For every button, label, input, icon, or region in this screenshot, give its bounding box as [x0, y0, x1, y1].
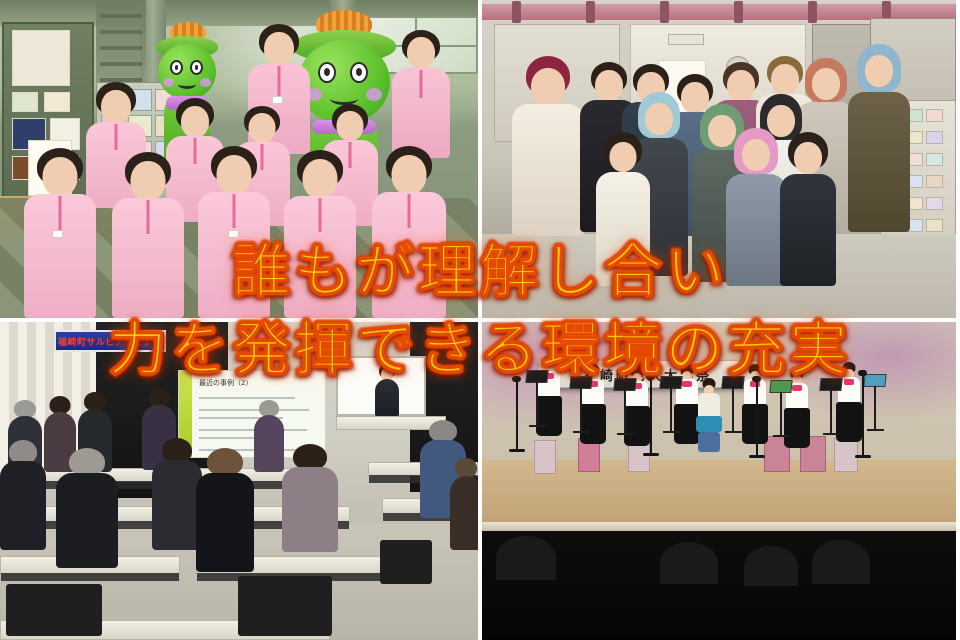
seated-performer: [694, 378, 724, 444]
chair: [238, 576, 332, 636]
attendee: [254, 400, 284, 472]
attendee: [0, 440, 46, 550]
photo-bottom-left: 福崎町サルビアセミナー 最近の事例（2）: [0, 322, 478, 640]
audience-head: [496, 536, 556, 580]
audience-head: [744, 546, 798, 586]
seminar-banner-text: 福崎町サルビアセミナー: [58, 335, 162, 348]
music-stand: [570, 376, 594, 434]
audience-head: [812, 540, 870, 584]
music-stand: [526, 370, 550, 430]
staff-person: [370, 146, 448, 318]
attendee: [282, 444, 338, 552]
photo-bottom-right-image: 福崎町老人大学祭: [482, 322, 956, 640]
microphone-stand: [862, 374, 864, 456]
stage-edge: [482, 522, 956, 531]
music-stand: [864, 374, 888, 436]
seminar-banner: 福崎町サルビアセミナー: [54, 330, 166, 352]
attendee: [56, 448, 118, 568]
slide-title: 最近の事例（2）: [199, 378, 252, 388]
exit-plate: [668, 34, 704, 45]
photo-top-right-image: [482, 0, 956, 318]
photo-top-left: 受付: [0, 0, 478, 318]
group-person: [510, 56, 586, 236]
poster: [12, 30, 70, 86]
photo-top-right: [482, 0, 956, 318]
group-person: [594, 132, 652, 288]
group-person: [778, 132, 838, 288]
music-stand: [614, 378, 638, 434]
chair: [534, 440, 556, 474]
photo-bottom-left-image: 福崎町サルビアセミナー 最近の事例（2）: [0, 322, 478, 640]
poster: [44, 92, 70, 112]
audience-head: [660, 542, 718, 584]
music-stand: [722, 376, 746, 434]
attendee: [152, 438, 202, 550]
chair: [380, 540, 432, 584]
slide-line: [199, 437, 261, 439]
group-person-hijab: [846, 44, 912, 234]
slide-line: [199, 397, 295, 399]
staff-person: [110, 152, 186, 318]
attendee: [196, 448, 254, 572]
microphone-stand: [650, 378, 652, 454]
staff-person: [282, 150, 358, 318]
microphone-stand: [516, 380, 518, 450]
photo-bottom-right: 福崎町老人大学祭: [482, 322, 956, 640]
photo-top-left-image: 受付: [0, 0, 478, 318]
staff-person: [390, 30, 452, 156]
slide-line: [199, 429, 307, 431]
presenter: [374, 364, 400, 416]
music-stand: [820, 378, 844, 436]
poster: [12, 92, 38, 112]
microphone-stand: [756, 380, 758, 456]
music-stand: [770, 380, 794, 436]
audience-darkness: [482, 531, 956, 640]
photo-collage: 受付: [0, 0, 960, 640]
staff-person: [22, 148, 98, 318]
chair: [6, 584, 102, 636]
staff-person: [196, 146, 272, 318]
music-stand: [660, 376, 684, 434]
attendee: [450, 458, 478, 550]
